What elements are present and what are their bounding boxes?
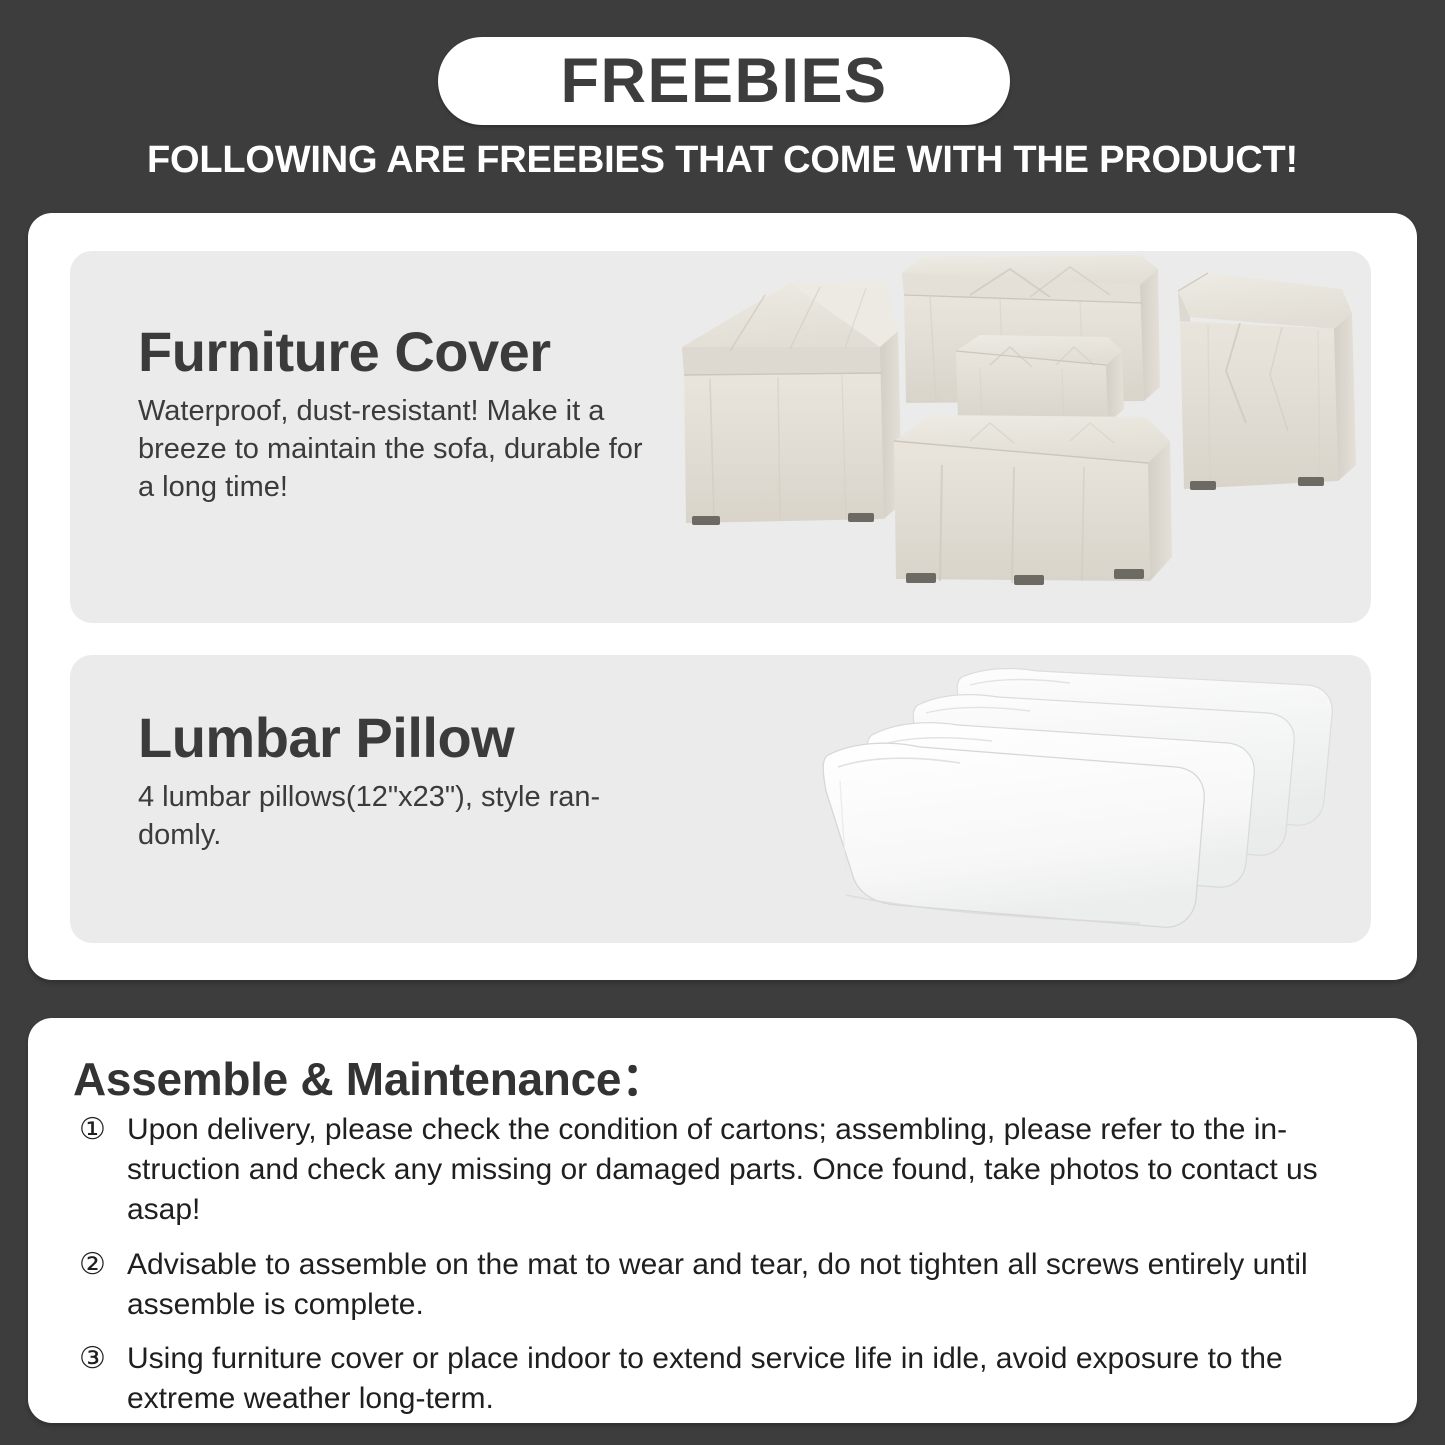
furniture-cover-set-image	[670, 251, 1370, 623]
lumbar-pillow-heading: Lumbar Pillow	[138, 709, 698, 768]
furniture-cover-heading: Furniture Cover	[138, 323, 698, 382]
freebie-panel-furniture-cover: Furniture Cover Waterproof, dust-resista…	[70, 251, 1371, 623]
list-item-marker: ②	[73, 1245, 127, 1285]
cover-chair-right	[1178, 273, 1356, 490]
list-item: ③ Using furniture cover or place indoor …	[73, 1339, 1373, 1419]
furniture-cover-description: Waterproof, dust-resistant! Make it a br…	[138, 392, 663, 507]
page-title: FREEBIES	[560, 50, 887, 113]
pillow-1	[823, 743, 1204, 927]
maintenance-card: Assemble & Maintenance： ① Upon delivery,…	[28, 1018, 1417, 1423]
lumbar-pillow-text-block: Lumbar Pillow 4 lumbar pillows(12"x23"),…	[138, 709, 698, 854]
list-item-text: Using furniture cover or place indoor to…	[127, 1339, 1373, 1419]
lumbar-pillow-description: 4 lumbar pillows(12"x23"), style ran-dom…	[138, 778, 663, 855]
maintenance-list: ① Upon delivery, please check the condit…	[73, 1110, 1373, 1433]
title-pill: FREEBIES	[438, 37, 1010, 125]
list-item-marker: ③	[73, 1339, 127, 1379]
maintenance-heading: Assemble & Maintenance：	[73, 1043, 667, 1109]
page-subtitle: FOLLOWING ARE FREEBIES THAT COME WITH TH…	[0, 140, 1445, 182]
cover-side-table	[956, 335, 1124, 423]
freebie-panel-lumbar-pillow: Lumbar Pillow 4 lumbar pillows(12"x23"),…	[70, 655, 1371, 943]
cover-ottoman-front	[894, 415, 1172, 585]
list-item-text: Advisable to assemble on the mat to wear…	[127, 1245, 1373, 1325]
list-item: ① Upon delivery, please check the condit…	[73, 1110, 1373, 1231]
cover-chair-left	[682, 281, 902, 525]
lumbar-pillow-stack-image	[810, 655, 1370, 943]
freebies-card: Furniture Cover Waterproof, dust-resista…	[28, 213, 1417, 980]
list-item-text: Upon delivery, please check the conditio…	[127, 1110, 1373, 1231]
list-item-marker: ①	[73, 1110, 127, 1150]
page-header: FREEBIES FOLLOWING ARE FREEBIES THAT COM…	[0, 0, 1445, 200]
list-item: ② Advisable to assemble on the mat to we…	[73, 1245, 1373, 1325]
furniture-cover-text-block: Furniture Cover Waterproof, dust-resista…	[138, 323, 698, 507]
